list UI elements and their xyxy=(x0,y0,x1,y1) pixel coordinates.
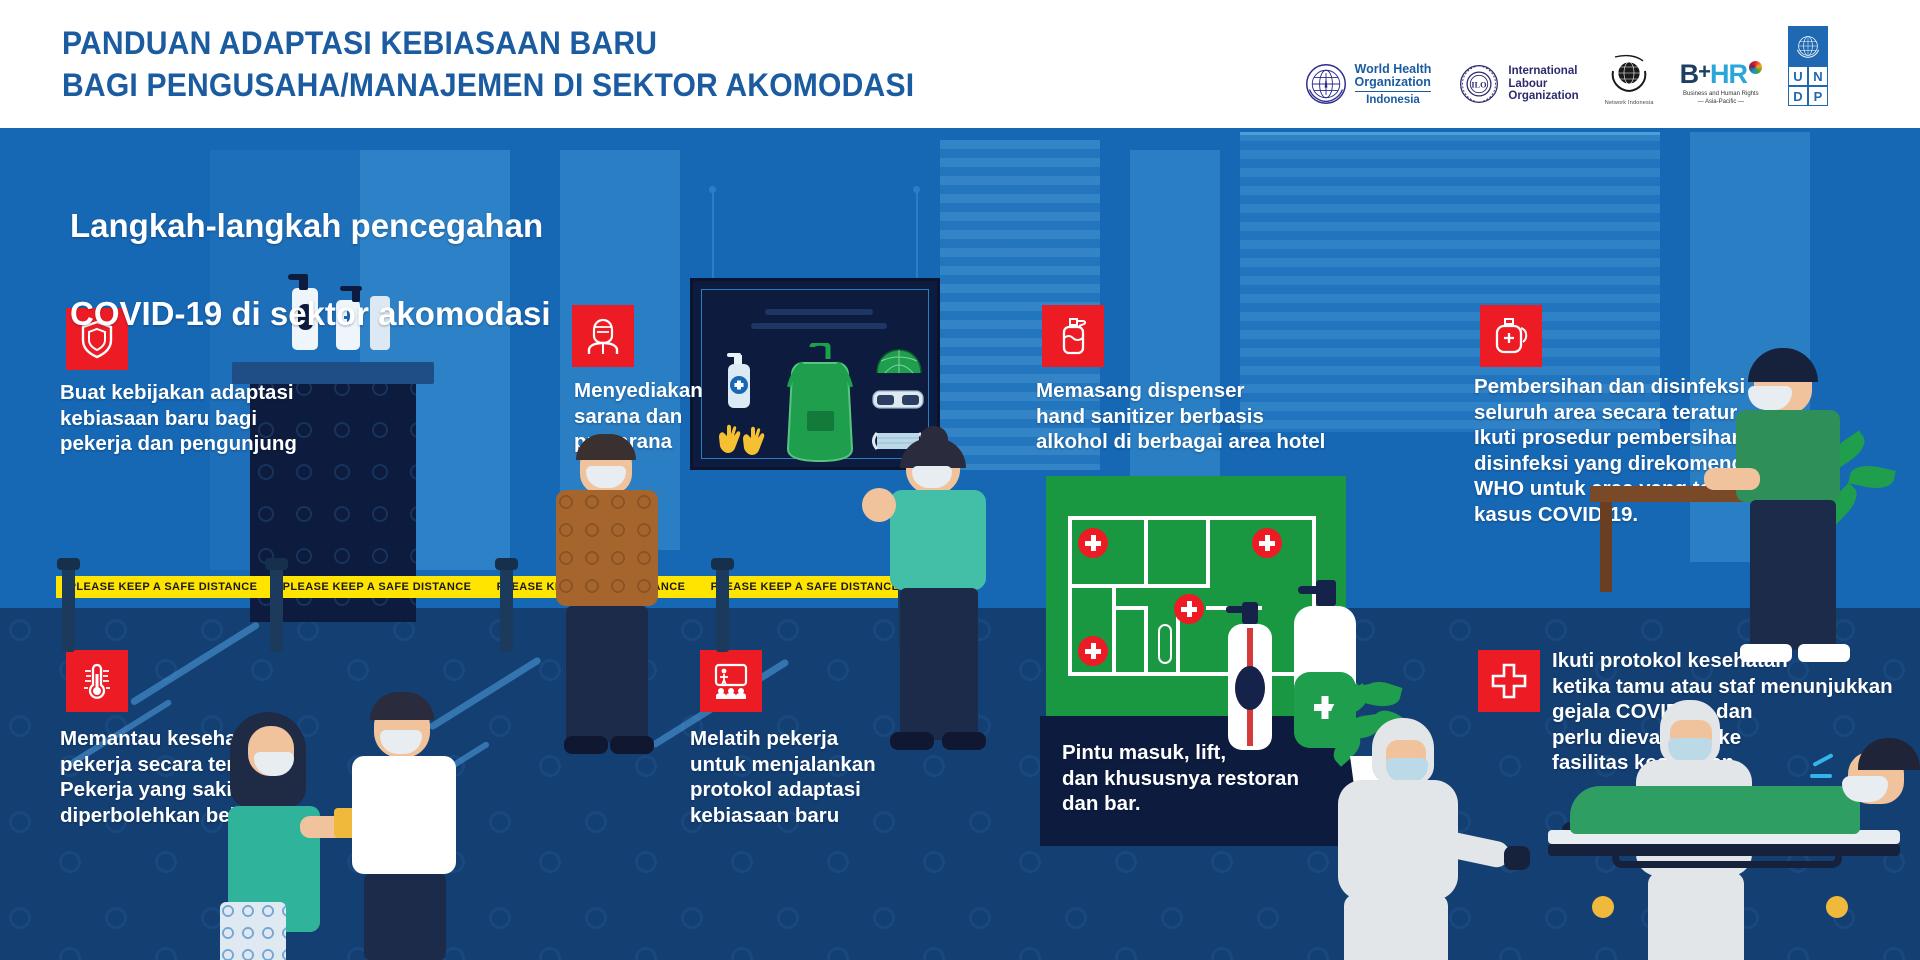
subtitle-block: Langkah-langkah pencegahan COVID-19 di s… xyxy=(70,160,550,380)
training-board-icon xyxy=(711,661,751,701)
board-wire-left xyxy=(712,190,714,282)
tile-training-board-icon xyxy=(700,650,762,712)
who-country: Indonesia xyxy=(1355,91,1432,106)
large-soap-bottle xyxy=(1218,602,1282,752)
bhr-sub-2: — Asia-Pacific — xyxy=(1698,98,1744,106)
sanitizer-location-marker xyxy=(1174,594,1204,624)
stretcher-handle xyxy=(1612,854,1842,868)
stretcher-wheel xyxy=(1592,896,1614,918)
ilo-line-3: Organization xyxy=(1508,90,1578,103)
board-wire-anchor xyxy=(709,186,716,193)
tile-sanitizer-bottle-icon xyxy=(1042,305,1104,367)
undp-logo: U N D P xyxy=(1788,26,1828,106)
barrier-post xyxy=(716,566,729,652)
bhr-hr: HR xyxy=(1710,59,1747,90)
tape-text: PLEASE KEEP A SAFE DISTANCE xyxy=(56,581,270,593)
step-text-health-monitoring: Memantau kesehatan pekerja secara teratu… xyxy=(60,726,380,828)
ilo-emblem-icon: ILO xyxy=(1457,62,1501,106)
medical-cross-icon xyxy=(1489,661,1529,701)
bhr-plus: + xyxy=(1698,59,1710,85)
tile-staff-faceshield-icon xyxy=(572,305,634,367)
ppe-hairnet-icon xyxy=(875,347,923,377)
step-text-policy: Buat kebijakan adaptasi kebiasaan baru b… xyxy=(60,380,360,457)
board-wire-right xyxy=(916,190,918,282)
undp-letter-p: P xyxy=(1808,86,1828,106)
who-emblem-icon xyxy=(1304,62,1348,106)
barrier-post xyxy=(500,566,513,652)
ilo-logo: ILO International Labour Organization xyxy=(1457,62,1578,106)
subtitle-line-1: Langkah-langkah pencegahan xyxy=(70,204,550,248)
tile-spray-disinfectant-icon xyxy=(1480,305,1542,367)
ppe-goggles-icon xyxy=(871,387,925,413)
bhr-logo: B + HR Business and Human Rights — Asia-… xyxy=(1680,59,1762,106)
spray-disinfectant-icon xyxy=(1491,316,1531,356)
page-title: PANDUAN ADAPTASI KEBIASAAN BARU BAGI PEN… xyxy=(62,22,969,106)
undp-letter-u: U xyxy=(1788,66,1808,86)
barrier-post xyxy=(62,566,75,652)
un-global-compact-logo: Network Indonesia xyxy=(1605,51,1654,106)
bhr-sub-1: Business and Human Rights xyxy=(1683,90,1759,98)
tape-text: PLEASE KEEP A SAFE DISTANCE xyxy=(270,581,484,593)
infographic-poster: PANDUAN ADAPTASI KEBIASAAN BARU BAGI PEN… xyxy=(0,0,1920,960)
barrier-post xyxy=(270,566,283,652)
tile-thermometer-icon xyxy=(66,650,128,712)
sanitizer-location-marker xyxy=(1078,528,1108,558)
header-bar: PANDUAN ADAPTASI KEBIASAAN BARU BAGI PEN… xyxy=(0,0,1920,128)
window-frame-line xyxy=(1240,132,1660,135)
logo-strip: World Health Organization Indonesia ILO … xyxy=(1304,28,1828,106)
sanitizer-location-marker xyxy=(1252,528,1282,558)
sanitizer-bottle-icon xyxy=(1053,316,1093,356)
bhr-b: B xyxy=(1680,59,1699,90)
who-line-1: World Health xyxy=(1355,63,1432,76)
svg-text:ILO: ILO xyxy=(1472,81,1488,90)
title-line-2: BAGI PENGUSAHA/MANAJEMEN DI SEKTOR AKOMO… xyxy=(62,64,914,106)
ilo-line-2: Labour xyxy=(1508,78,1578,91)
undp-letter-d: D xyxy=(1788,86,1808,106)
sdg-wheel-icon xyxy=(1749,61,1762,74)
globe-wreath-icon xyxy=(1605,51,1653,99)
undp-letter-n: N xyxy=(1808,66,1828,86)
gc-caption: Network Indonesia xyxy=(1605,100,1654,106)
who-logo: World Health Organization Indonesia xyxy=(1304,62,1432,106)
safe-distance-tape: PLEASE KEEP A SAFE DISTANCE PLEASE KEEP … xyxy=(56,576,912,598)
un-emblem-icon xyxy=(1788,26,1828,66)
stretcher-frame xyxy=(1548,844,1900,856)
stretcher-wheel xyxy=(1826,896,1848,918)
caption-entrance: Pintu masuk, lift, dan khususnya restora… xyxy=(1062,740,1362,817)
staff-faceshield-icon xyxy=(583,316,623,356)
who-line-2: Organization xyxy=(1355,76,1432,89)
thermometer-icon xyxy=(77,661,117,701)
subtitle-line-2: COVID-19 di sektor akomodasi xyxy=(70,292,550,336)
tile-medical-cross-icon xyxy=(1478,650,1540,712)
title-line-1: PANDUAN ADAPTASI KEBIASAAN BARU xyxy=(62,22,914,64)
sanitizer-location-marker xyxy=(1078,636,1108,666)
ilo-line-1: International xyxy=(1508,65,1578,78)
cough-lines xyxy=(1810,774,1832,778)
step-text-sanitizer: Memasang dispenser hand sanitizer berbas… xyxy=(1036,378,1366,455)
tape-text: PLEASE KEEP A SAFE DISTANCE xyxy=(698,581,912,593)
patient-blanket xyxy=(1570,786,1860,834)
board-wire-anchor xyxy=(913,186,920,193)
desk-leg xyxy=(1600,502,1612,592)
